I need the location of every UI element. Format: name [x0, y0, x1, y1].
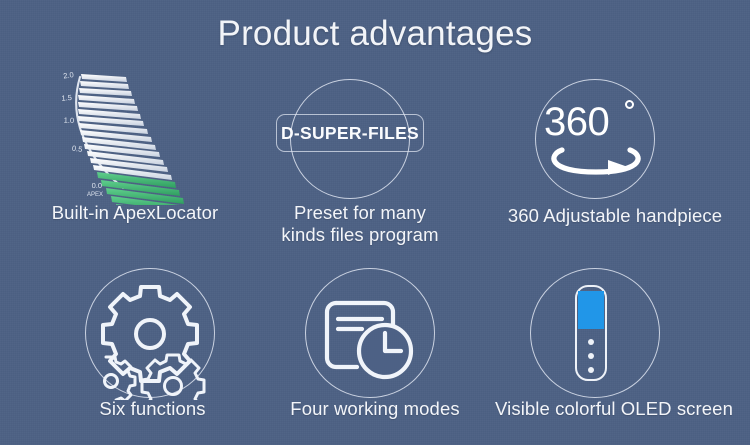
feature-six-functions — [80, 265, 225, 400]
caption-apex-locator: Built-in ApexLocator — [10, 202, 260, 224]
d-super-files-badge-icon: D-SUPER-FILES — [276, 114, 424, 152]
device-button-1 — [588, 339, 594, 345]
feature-oled-screen — [525, 265, 670, 400]
files-badge-label: D-SUPER-FILES — [281, 123, 419, 144]
rotation-360-value: 360 — [544, 102, 609, 142]
scale-tick-2-0: 2.0 — [63, 70, 75, 80]
document-clock-icon — [300, 265, 445, 400]
scale-tick-0-0: 0.0 — [92, 181, 102, 190]
caption-files-program: Preset for many kinds files program — [265, 202, 455, 246]
caption-line-1: Preset for many — [265, 202, 455, 224]
caption-line-2: kinds files program — [265, 224, 455, 246]
oled-display — [578, 291, 604, 329]
degree-symbol-icon — [625, 100, 634, 109]
device-button-2 — [588, 353, 594, 359]
scale-tick-1-5: 1.5 — [61, 93, 72, 103]
page-title: Product advantages — [0, 14, 750, 54]
feature-files-program: D-SUPER-FILES — [275, 72, 435, 204]
feature-adjustable-handpiece: 360 — [520, 72, 680, 204]
gears-icon — [80, 265, 225, 400]
scale-tick-1-0: 1.0 — [63, 116, 74, 125]
scale-tick-0-5: 0.5 — [71, 144, 83, 154]
caption-six-functions: Six functions — [50, 398, 255, 420]
feature-apex-locator: 2.0 1.5 1.0 0.5 0.0 APEX OVER — [30, 60, 235, 205]
apex-locator-scale-icon: 2.0 1.5 1.0 0.5 0.0 APEX OVER — [30, 60, 235, 205]
caption-oled-screen: Visible colorful OLED screen — [478, 398, 750, 420]
caption-adjustable-handpiece: 360 Adjustable handpiece — [480, 205, 750, 227]
caption-working-modes: Four working modes — [260, 398, 490, 420]
scale-apex-label: APEX — [87, 192, 103, 198]
device-button-3 — [588, 367, 594, 373]
feature-working-modes — [300, 265, 445, 400]
